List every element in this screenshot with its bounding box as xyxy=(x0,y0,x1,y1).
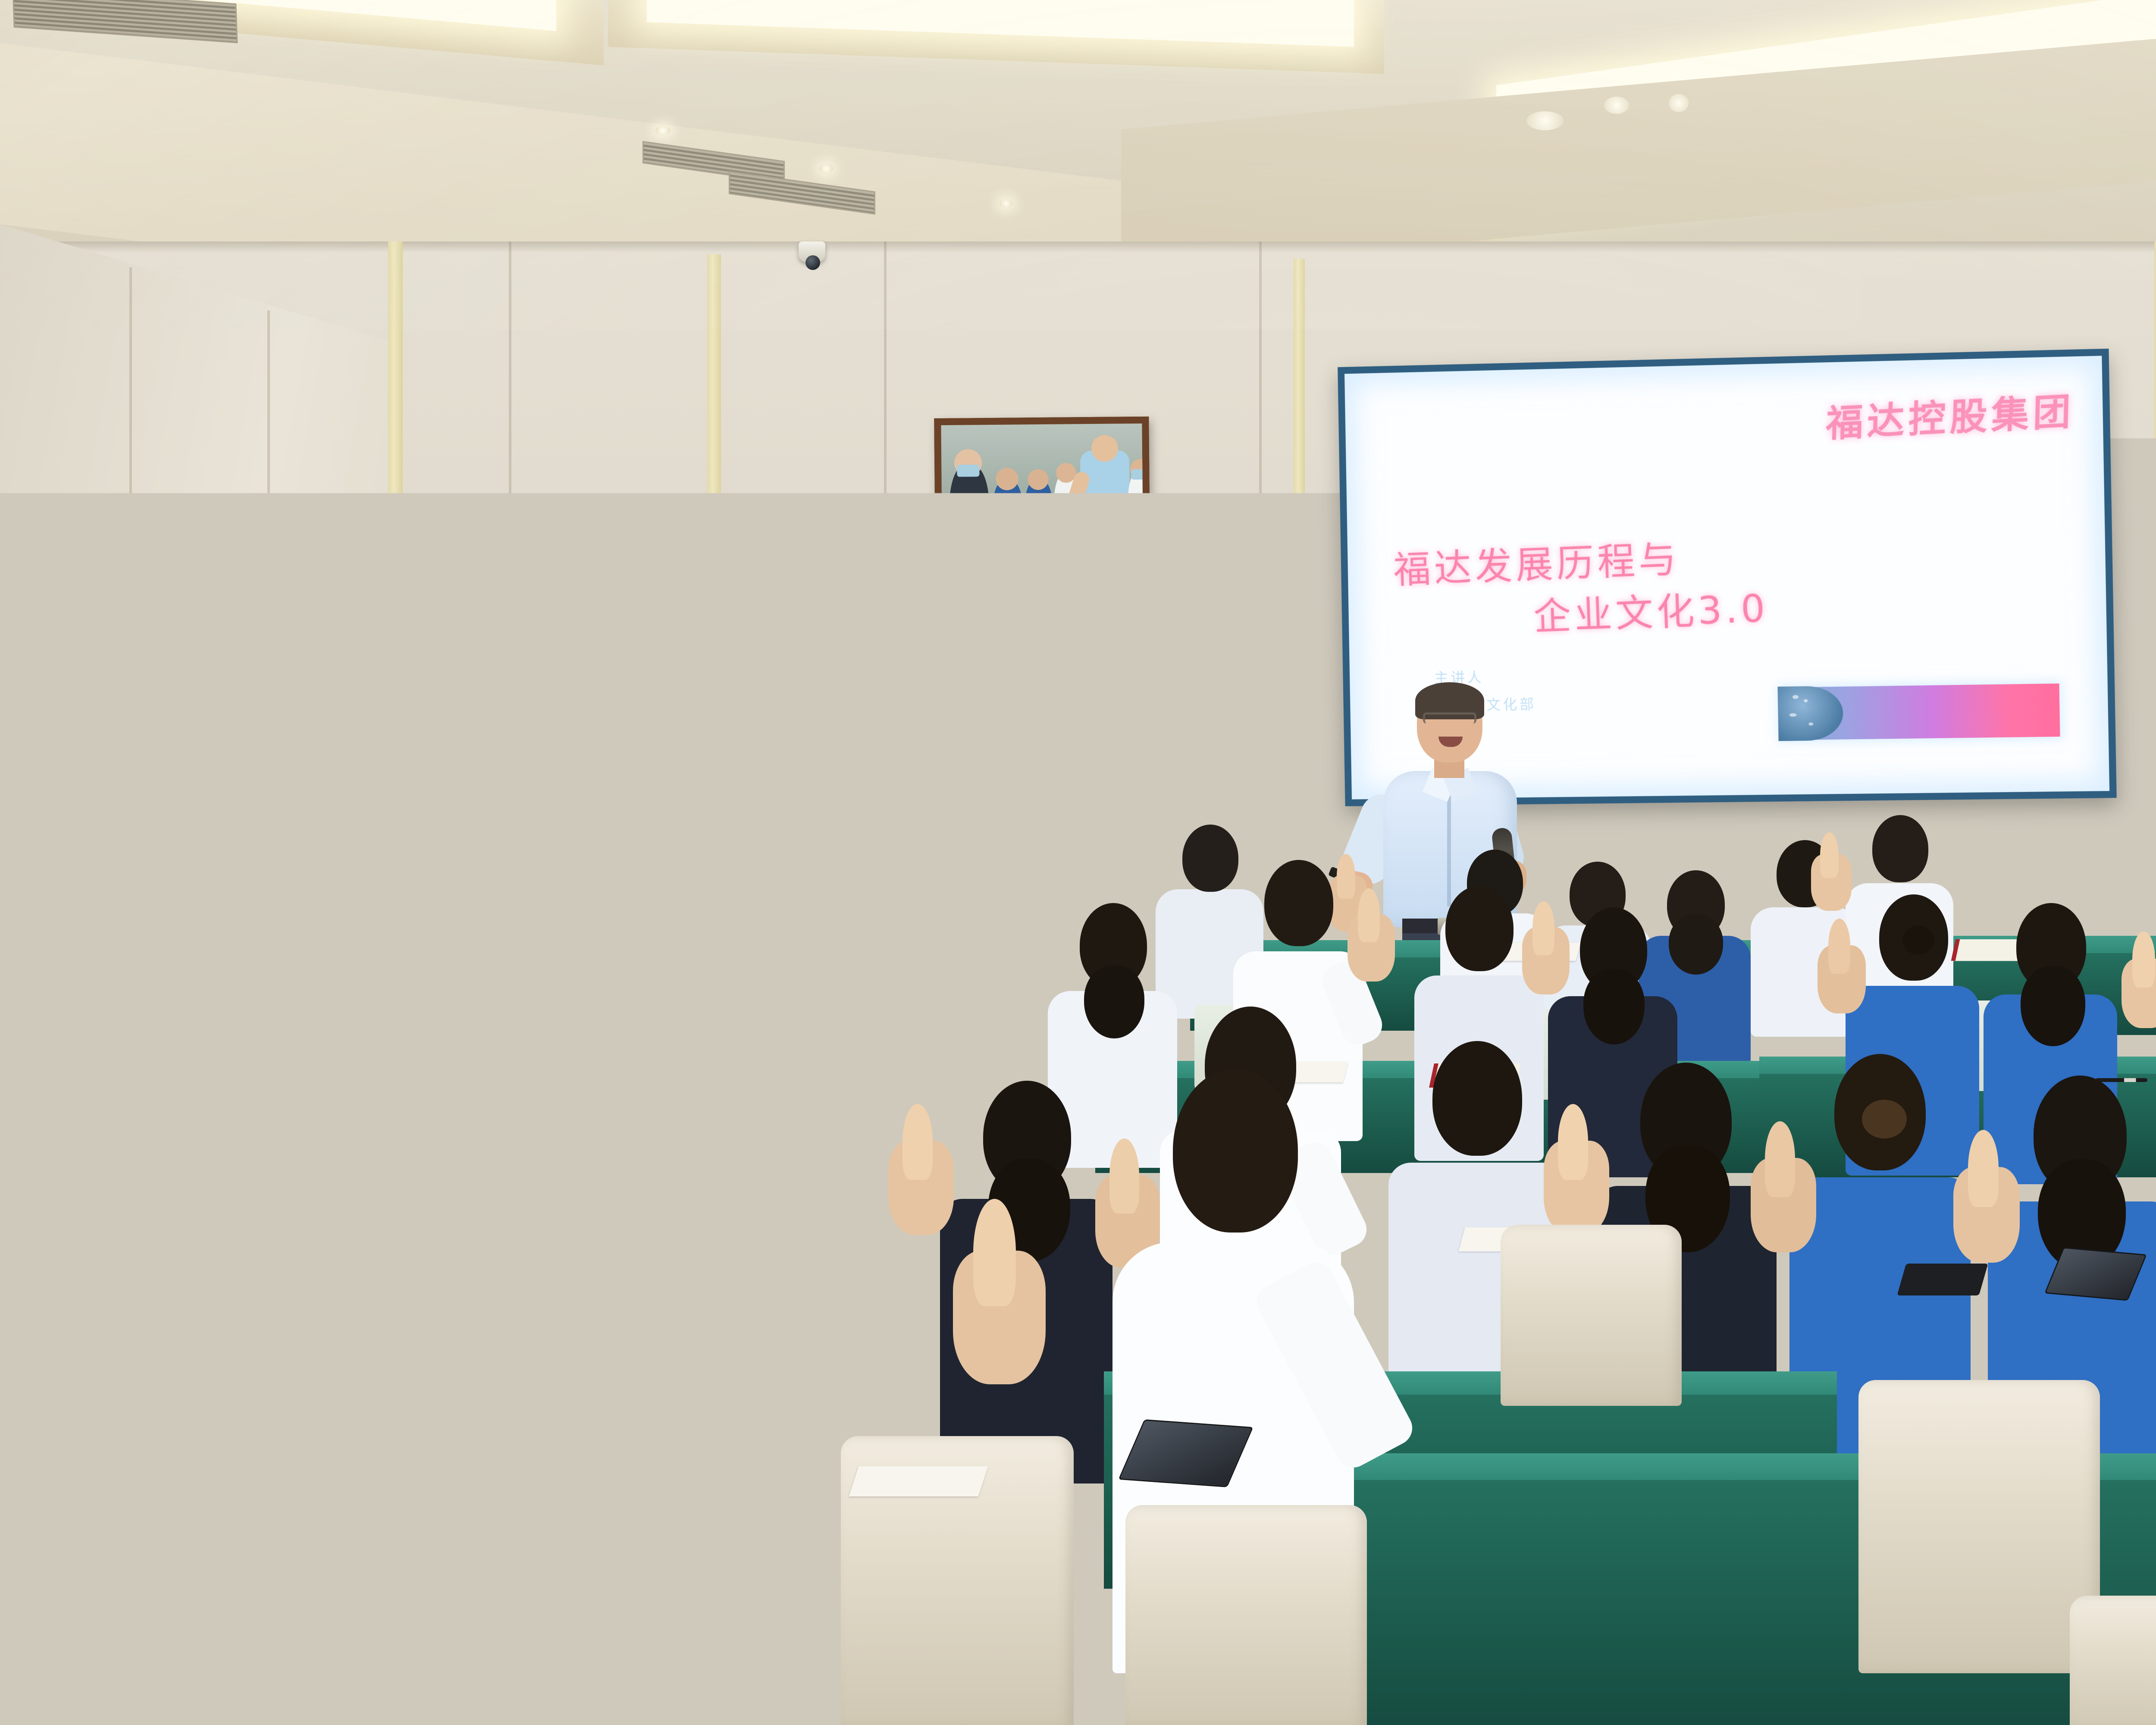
thumbs-up-gesture xyxy=(582,789,622,868)
chair xyxy=(2070,1596,2156,1725)
camera-lens-icon xyxy=(805,255,820,270)
eyeglasses-icon xyxy=(1423,712,1476,724)
chair xyxy=(336,1233,509,1414)
slide-title-line-2: 企业文化3.0 xyxy=(1533,589,1769,636)
thumbs-up-gesture xyxy=(1751,1121,1816,1252)
thumbs-up-gesture xyxy=(1818,919,1866,1013)
thumbs-up-gesture xyxy=(886,875,934,970)
slide-company-logo: 福达控股集团 xyxy=(1825,393,2075,443)
ceiling-sprinkler xyxy=(1669,94,1689,112)
ceiling-downlight xyxy=(655,126,670,135)
thumbs-up-gesture xyxy=(565,858,611,950)
thumbs-up-gesture xyxy=(185,910,233,1003)
paper-sheet xyxy=(849,1466,988,1496)
thumbs-up-gesture xyxy=(52,897,99,990)
chair xyxy=(267,1596,509,1725)
framed-wall-photo xyxy=(934,417,1150,591)
photo-caption-bar xyxy=(942,558,1143,584)
thumbs-up-gesture xyxy=(229,1173,319,1354)
thumbs-up-gesture xyxy=(2122,931,2156,1028)
power-bank xyxy=(1897,1264,1988,1295)
wall-pilaster xyxy=(1294,259,1305,906)
chair xyxy=(1125,1505,1367,1725)
ac-vent xyxy=(13,0,238,43)
thumbs-up-gesture xyxy=(1544,1104,1609,1235)
ceiling-smoke-detector xyxy=(1604,97,1629,114)
notebook xyxy=(1002,1432,1124,1479)
audience-member xyxy=(552,1138,776,1725)
chair xyxy=(1858,1380,2100,1673)
chair xyxy=(1501,1225,1682,1406)
slide-decorative-band xyxy=(1780,684,2060,740)
globe-icon xyxy=(1777,686,1843,741)
ceiling-downlight xyxy=(819,164,833,173)
thumbs-up-gesture xyxy=(888,1104,954,1235)
thumbs-up-gesture xyxy=(1347,888,1395,982)
thumbs-up-gesture xyxy=(1522,901,1570,994)
paper-cup xyxy=(91,1268,151,1337)
thumbs-up-gesture xyxy=(953,1199,1046,1384)
thumbs-up-gesture xyxy=(858,798,899,878)
seminar-photo-scene: 福达控股集团 福达发展历程与 企业文化3.0 主讲人 企业文化部 xyxy=(0,0,2156,1725)
slide-title-line-1: 福达发展历程与 xyxy=(1393,540,1680,589)
thumbs-up-gesture xyxy=(1953,1130,2020,1263)
chair xyxy=(73,1397,298,1665)
ceiling-downlight xyxy=(1000,199,1012,208)
paper-sheet xyxy=(280,1337,410,1364)
thumbs-up-gesture xyxy=(457,906,504,997)
ceiling-speaker xyxy=(1526,111,1564,130)
